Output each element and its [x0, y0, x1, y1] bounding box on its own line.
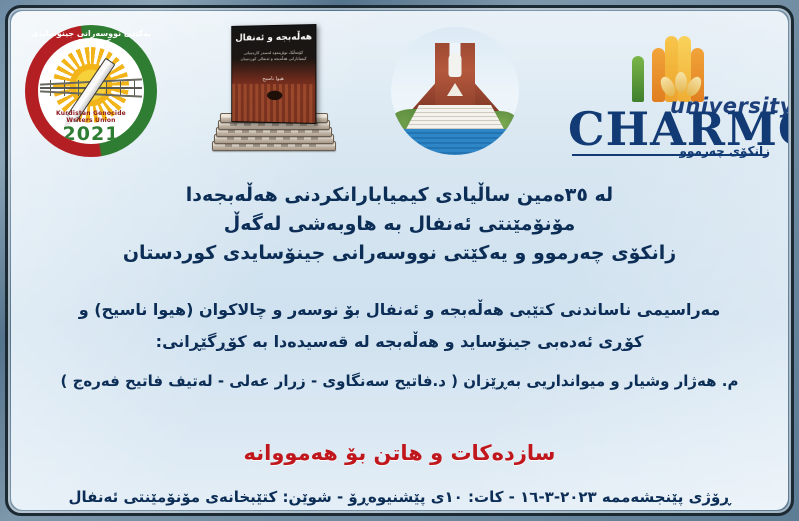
- book-cover-author: هیوا ناسیح: [232, 76, 315, 82]
- poster-title: لە ٣٥ەمین ساڵیادی کیمیابارانکردنی هەڵەبج…: [11, 181, 788, 268]
- title-line-2: مۆنۆمێنتی ئەنفال بە هاوبەشی لەگەڵ: [11, 210, 788, 239]
- book-cover: هەڵەبجە و ئەنفال کۆمەڵێک توێژینەوە لەسەر…: [231, 24, 316, 124]
- logo-slot-monument: [391, 27, 519, 155]
- emblem-english-line1: Kurdistan Genocide: [56, 110, 126, 117]
- wheat-grain: [675, 72, 687, 93]
- logo-slot-charmo-university: university™ CHARMO زانكۆى چەرموو: [566, 28, 774, 154]
- emblem-inner-disc: Kurdistan Genocide Writers Union 2021: [38, 38, 144, 144]
- book-cover-title: هەڵەبجە و ئەنفال: [232, 32, 315, 43]
- book-cover-artwork: [232, 84, 315, 123]
- poster-highlight-invitation: سازدەکات و هاتن بۆ هەمووانە: [11, 438, 788, 468]
- logo-slot-writers-union: یەکێتی نووسەرانی جینۆسایدی کوردستان Kurd…: [25, 25, 157, 157]
- logo-slot-book-stack: هەڵەبجە و ئەنفال کۆمەڵێک توێژینەوە لەسەر…: [204, 21, 344, 161]
- book-stack-photo: هەڵەبجە و ئەنفال کۆمەڵێک توێژینەوە لەسەر…: [204, 21, 344, 161]
- book-cover-subtitle: کۆمەڵێک توێژینەوە لەسەر کارەساتی کیمیابا…: [238, 50, 309, 63]
- event-poster: یەکێتی نووسەرانی جینۆسایدی کوردستان Kurd…: [0, 0, 799, 521]
- poster-speakers-line: م. هەژار وشیار و میوانداریی بەڕێزان ( د.…: [11, 368, 788, 394]
- monument-figure-sculpture: [449, 53, 462, 77]
- poster-body: مەراسیمی ناساندنی کتێبی هەڵەبجە و ئەنفال…: [11, 294, 788, 358]
- emblem-english-text: Kurdistan Genocide Writers Union: [38, 110, 144, 124]
- title-line-3: زانکۆی چەرموو و یەکێتی نووسەرانی جینۆسای…: [11, 239, 788, 268]
- monument-water: [391, 129, 519, 155]
- body-line-1: مەراسیمی ناساندنی کتێبی هەڵەبجە و ئەنفال…: [11, 294, 788, 326]
- poster-inner-panel: یەکێتی نووسەرانی جینۆسایدی کوردستان Kurd…: [11, 11, 788, 510]
- emblem-year: 2021: [38, 123, 144, 144]
- charmo-university-logo: university™ CHARMO زانكۆى چەرموو: [566, 28, 774, 154]
- charmo-kurdish-name: زانكۆى چەرموو: [680, 144, 770, 158]
- title-line-1: لە ٣٥ەمین ساڵیادی کیمیابارانکردنی هەڵەبج…: [11, 181, 788, 210]
- kurdistan-genocide-writers-union-emblem: یەکێتی نووسەرانی جینۆسایدی کوردستان Kurd…: [25, 25, 157, 157]
- poster-header-logos: یەکێتی نووسەرانی جینۆسایدی کوردستان Kurd…: [11, 11, 788, 171]
- monument-steps: [405, 105, 505, 131]
- monument-triangle-detail: [447, 83, 463, 96]
- body-line-2: کۆڕی ئەدەبی جینۆساید و هەڵەبجە لە قەسیدە…: [11, 326, 788, 358]
- charmo-leaf-icon: [632, 56, 644, 102]
- halabja-monument-photo: [391, 27, 519, 155]
- poster-footer-date-venue: ڕۆژی پێنجشەممە ٢٠٢٣-٣-١٦ - کات: ١٠ی پێشن…: [11, 484, 788, 510]
